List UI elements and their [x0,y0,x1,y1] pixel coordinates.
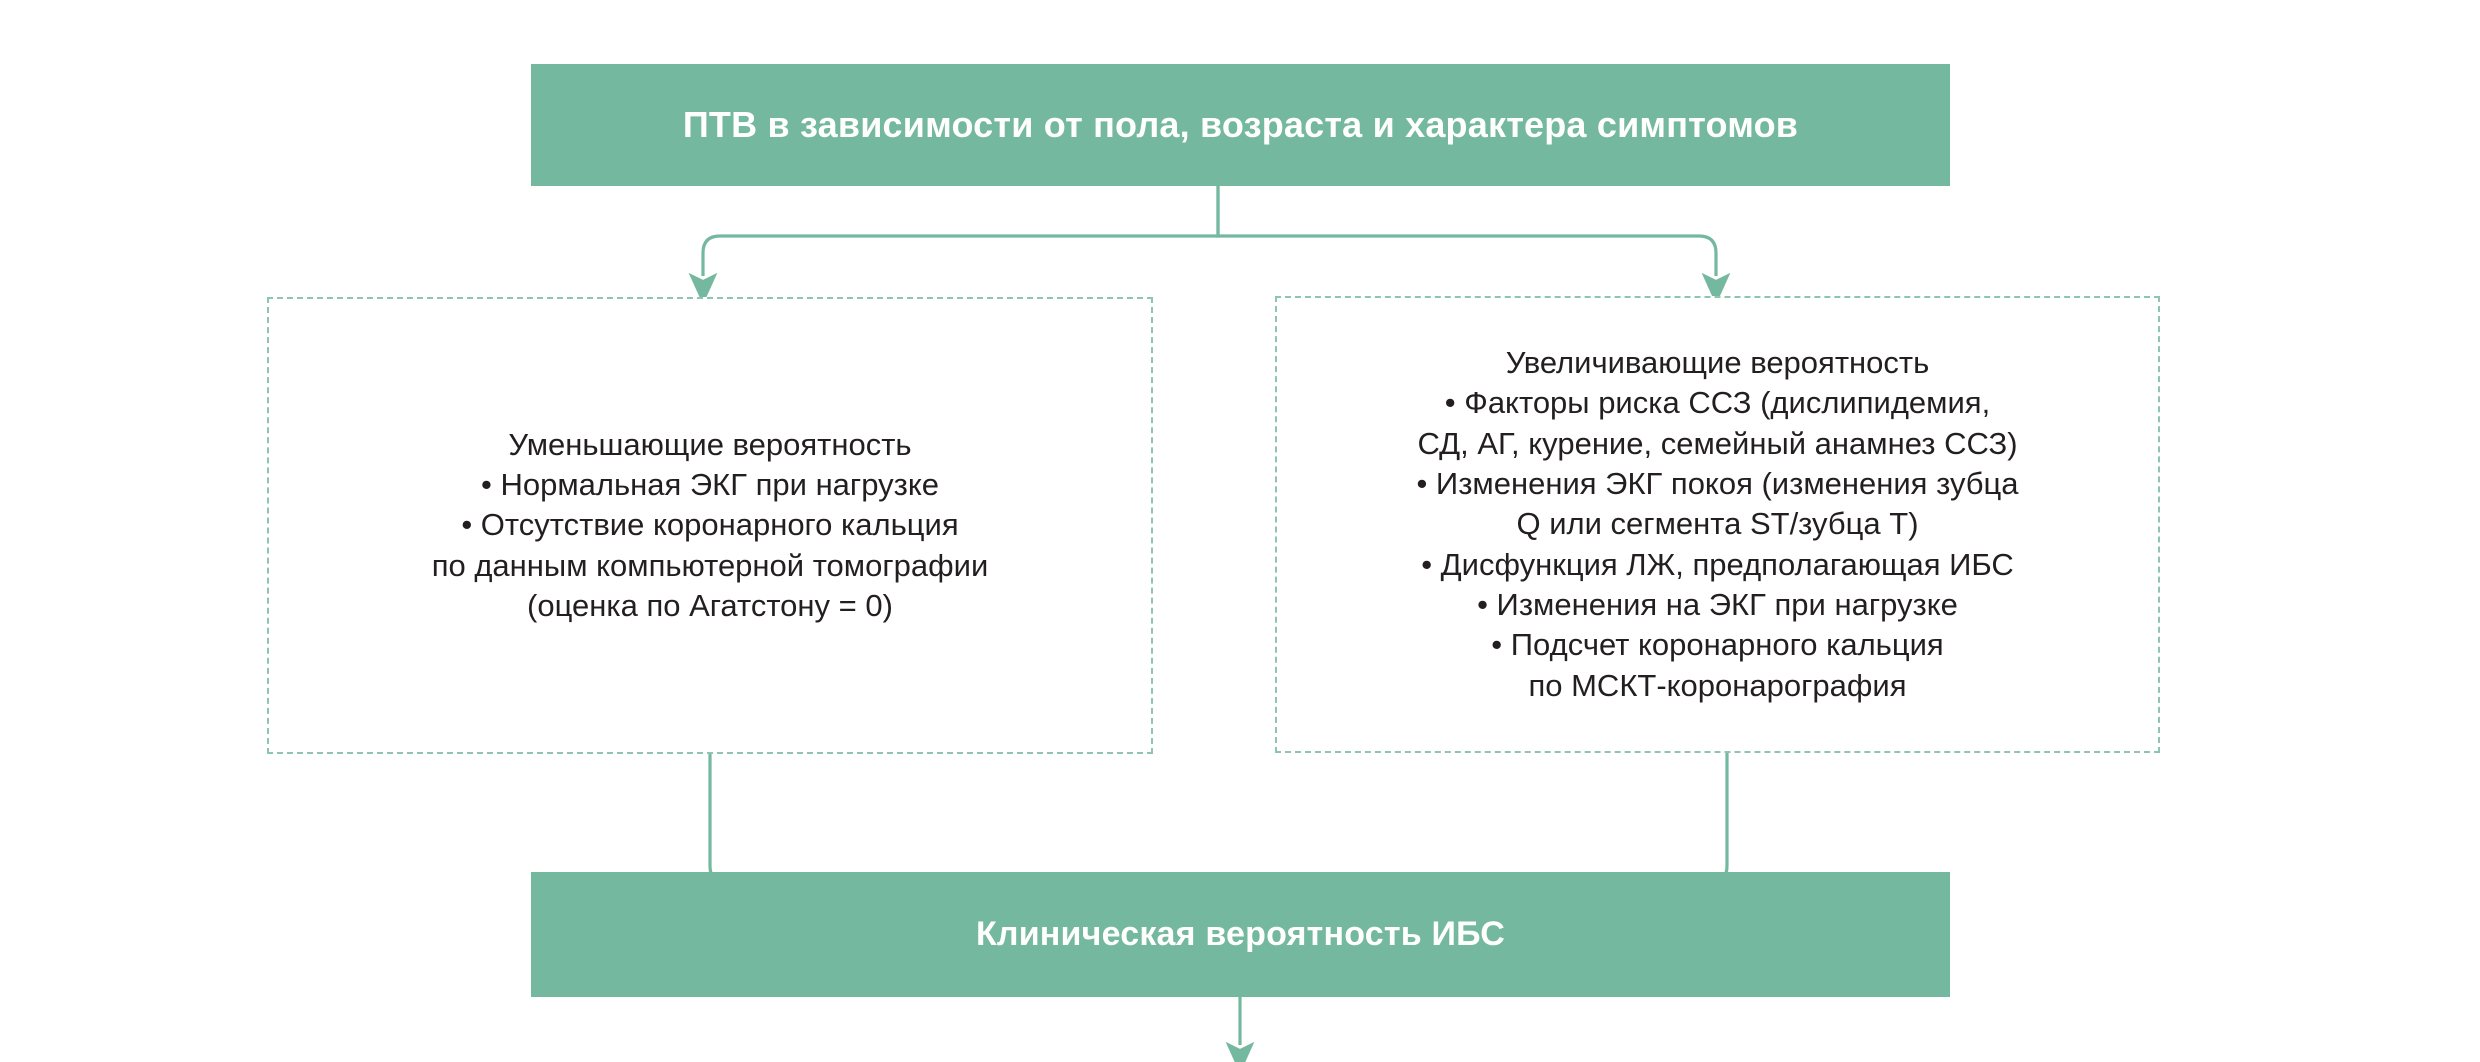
title-banner: ПТВ в зависимости от пола, возраста и ха… [531,64,1950,186]
decreasing-probability-box: Уменьшающие вероятность • Нормальная ЭКГ… [267,297,1153,754]
split-to-left-branch-connector [703,186,1218,276]
increasing-probability-text: Увеличивающие вероятность • Факторы риск… [1408,343,2026,706]
merge-right-leg-connector [1240,753,1727,883]
decreasing-probability-text: Уменьшающие вероятность • Нормальная ЭКГ… [424,425,997,626]
diagram-canvas: ПТВ в зависимости от пола, возраста и ха… [0,0,2480,1062]
title-banner-label: ПТВ в зависимости от пола, возраста и ха… [683,104,1798,145]
split-to-right-branch-connector [1218,186,1716,276]
merge-left-leg-connector [710,754,1240,883]
increasing-probability-box: Увеличивающие вероятность • Факторы риск… [1275,296,2160,753]
result-banner: Клиническая вероятность ИБС [531,872,1950,997]
result-banner-label: Клиническая вероятность ИБС [976,915,1505,954]
split-connector-group [703,186,1716,276]
